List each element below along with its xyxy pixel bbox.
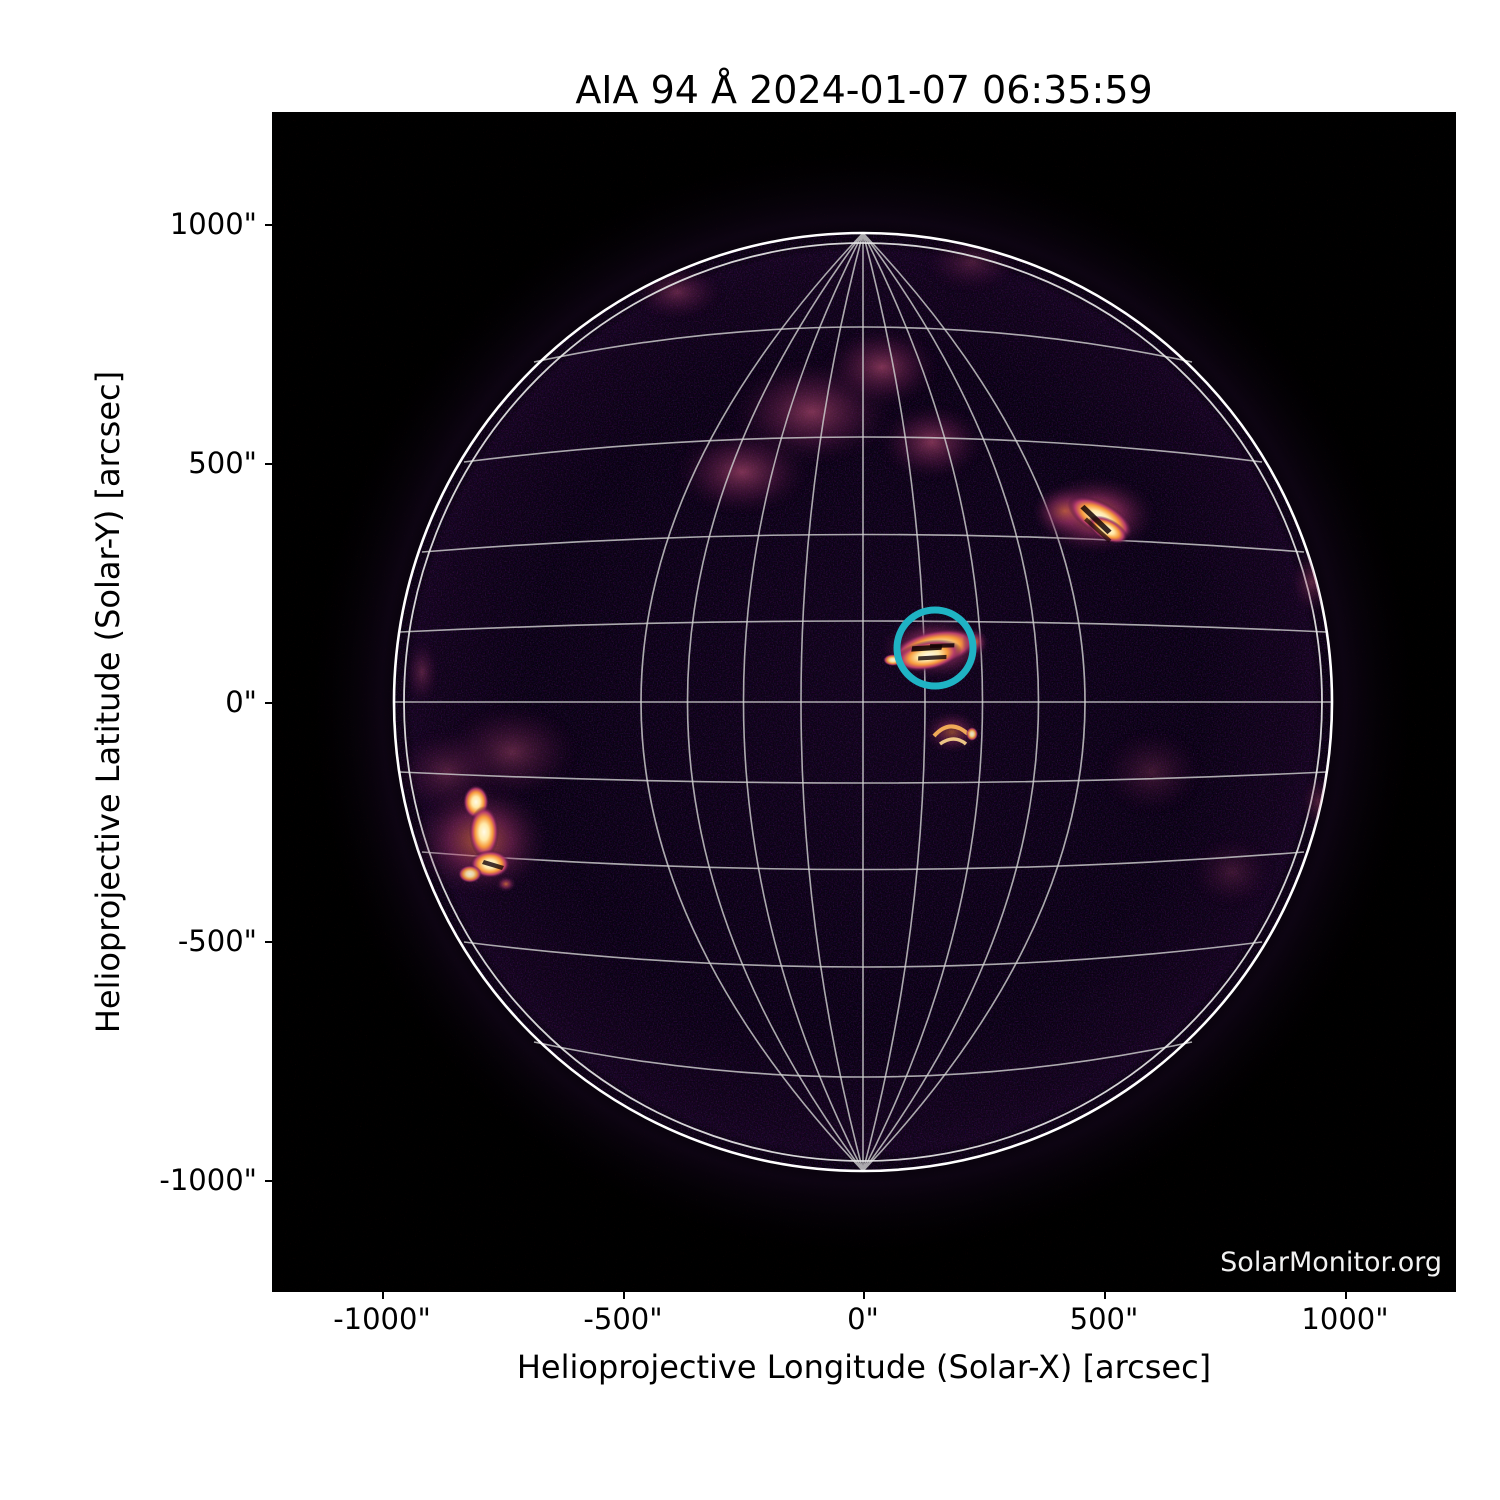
y-tick-mark (265, 463, 272, 465)
y-tick-label: 1000" (170, 207, 257, 241)
watermark-label: SolarMonitor.org (1220, 1247, 1442, 1278)
x-tick-label: -1000" (333, 1302, 431, 1336)
y-tick-mark (265, 702, 272, 704)
y-tick-mark (265, 1180, 272, 1182)
y-tick-label: -500" (178, 924, 257, 958)
y-tick-mark (265, 224, 272, 226)
x-tick-label: 0" (847, 1302, 879, 1336)
x-axis-label: Helioprojective Longitude (Solar-X) [arc… (272, 1348, 1456, 1386)
solar-image-figure: AIA 94 Å 2024-01-07 06:35:59 (0, 0, 1500, 1500)
x-tick-mark (382, 1292, 384, 1299)
y-tick-mark (265, 941, 272, 943)
x-tick-mark (623, 1292, 625, 1299)
solar-image-plot[interactable]: SolarMonitor.org (272, 112, 1456, 1292)
x-tick-label: -500" (583, 1302, 662, 1336)
y-tick-label: -1000" (159, 1163, 257, 1197)
page-title: AIA 94 Å 2024-01-07 06:35:59 (272, 68, 1456, 112)
x-tick-mark (863, 1292, 865, 1299)
x-tick-label: 500" (1070, 1302, 1139, 1336)
x-tick-mark (1345, 1292, 1347, 1299)
x-tick-mark (1104, 1292, 1106, 1299)
y-tick-label: 0" (225, 685, 257, 719)
solar-disk-image (272, 112, 1456, 1292)
y-tick-label: 500" (188, 446, 257, 480)
x-tick-label: 1000" (1301, 1302, 1388, 1336)
y-axis-label: Helioprojective Latitude (Solar-Y) [arcs… (78, 112, 138, 1292)
